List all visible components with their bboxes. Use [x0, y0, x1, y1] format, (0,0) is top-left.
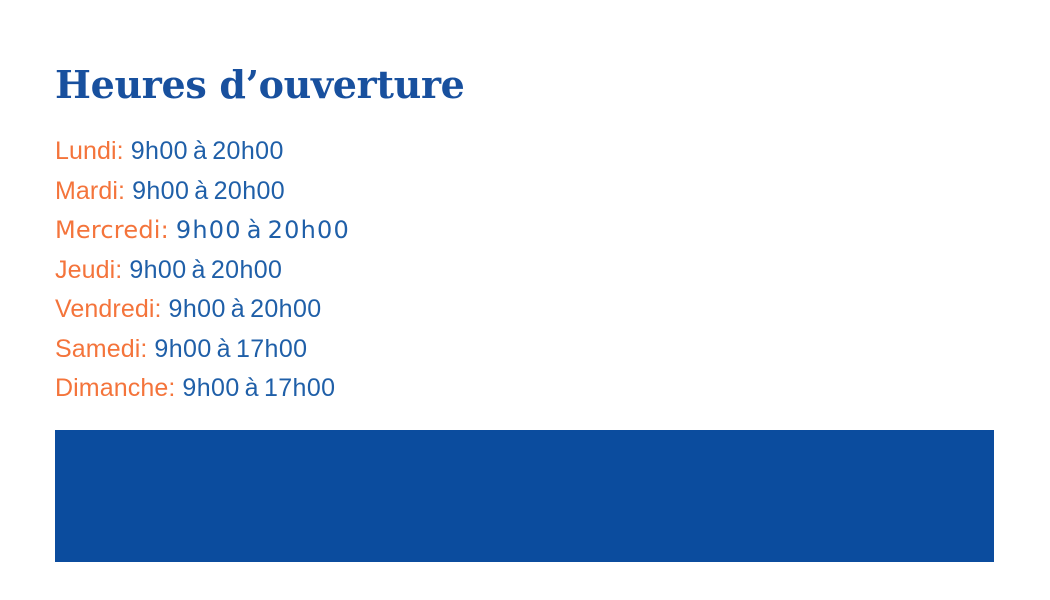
day-label: Vendredi: — [55, 295, 162, 323]
day-hours: 9h00à20h00 — [131, 137, 284, 165]
list-item: Mercredi:9h00à20h00 — [55, 211, 695, 251]
list-item: Lundi:9h00à20h00 — [55, 132, 695, 172]
close-time: 17h00 — [236, 335, 308, 363]
day-label: Mercredi: — [55, 216, 169, 244]
close-time: 20h00 — [268, 216, 350, 244]
day-label: Jeudi: — [55, 256, 122, 284]
list-item: Jeudi:9h00à20h00 — [55, 251, 695, 291]
day-label: Mardi: — [55, 177, 125, 205]
close-time: 20h00 — [250, 295, 322, 323]
day-label: Samedi: — [55, 335, 147, 363]
opening-hours-list: Lundi:9h00à20h00 Mardi:9h00à20h00 Mercre… — [55, 132, 695, 409]
page-title: Heures d’ouverture — [55, 62, 465, 108]
close-time: 20h00 — [211, 256, 283, 284]
list-item: Mardi:9h00à20h00 — [55, 172, 695, 212]
day-hours: 9h00à17h00 — [182, 374, 335, 402]
time-separator: à — [231, 295, 245, 323]
list-item: Samedi:9h00à17h00 — [55, 330, 695, 370]
slide-canvas: Heures d’ouverture Lundi:9h00à20h00 Mard… — [0, 0, 1050, 600]
day-hours: 9h00à17h00 — [154, 335, 307, 363]
time-separator: à — [192, 256, 206, 284]
open-time: 9h00 — [129, 256, 186, 284]
day-hours: 9h00à20h00 — [129, 256, 282, 284]
time-separator: à — [194, 177, 208, 205]
day-hours: 9h00à20h00 — [176, 216, 350, 244]
open-time: 9h00 — [182, 374, 239, 402]
day-label: Lundi: — [55, 137, 124, 165]
time-separator: à — [193, 137, 207, 165]
close-time: 20h00 — [214, 177, 286, 205]
open-time: 9h00 — [132, 177, 189, 205]
day-hours: 9h00à20h00 — [132, 177, 285, 205]
list-item: Vendredi:9h00à20h00 — [55, 290, 695, 330]
close-time: 20h00 — [212, 137, 284, 165]
list-item: Dimanche:9h00à17h00 — [55, 369, 695, 409]
open-time: 9h00 — [154, 335, 211, 363]
open-time: 9h00 — [131, 137, 188, 165]
close-time: 17h00 — [264, 374, 336, 402]
day-label: Dimanche: — [55, 374, 175, 402]
time-separator: à — [247, 216, 263, 244]
open-time: 9h00 — [176, 216, 242, 244]
open-time: 9h00 — [169, 295, 226, 323]
blue-content-block — [55, 430, 994, 562]
day-hours: 9h00à20h00 — [169, 295, 322, 323]
time-separator: à — [217, 335, 231, 363]
time-separator: à — [245, 374, 259, 402]
